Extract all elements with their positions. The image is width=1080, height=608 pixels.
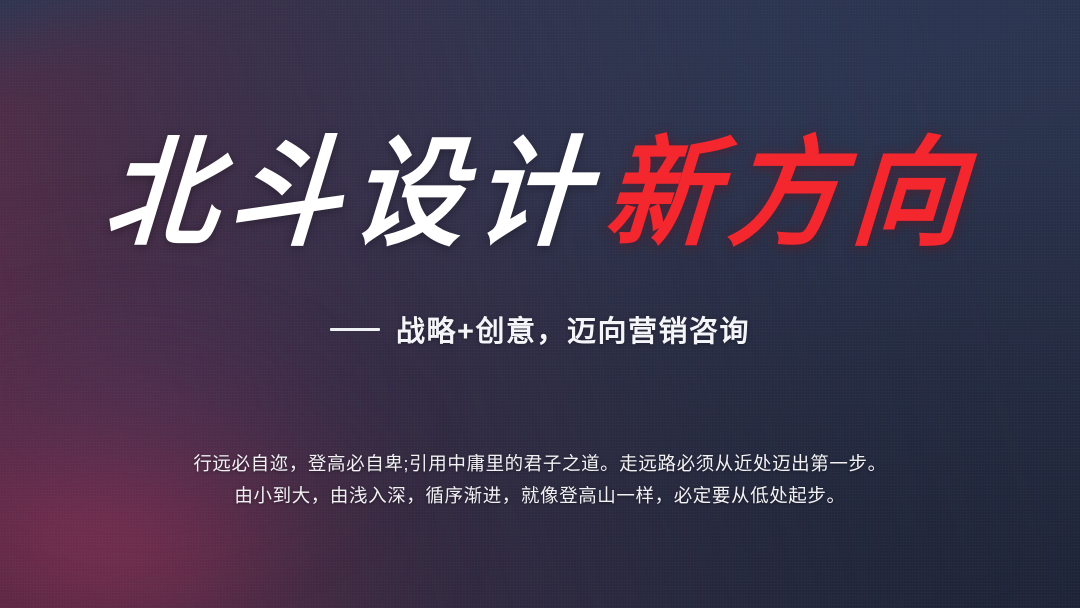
body-paragraph: 行远必自迩，登高必自卑;引用中庸里的君子之道。走远路必须从近处迈出第一步。 由小…: [0, 448, 1080, 512]
body-line-2: 由小到大，由浅入深，循序渐进，就像登高山一样，必定要从低处起步。: [0, 480, 1080, 512]
subtitle: 战略+创意，迈向营销咨询: [0, 308, 1080, 350]
poster-content: 北斗设计新方向 战略+创意，迈向营销咨询 行远必自迩，登高必自卑;引用中庸里的君…: [0, 0, 1080, 608]
headline-accent: 新方向: [601, 135, 978, 254]
headline: 北斗设计新方向: [0, 138, 1080, 250]
headline-primary: 北斗设计: [101, 135, 601, 254]
subtitle-dash-icon: [330, 328, 380, 331]
subtitle-text: 战略+创意，迈向营销咨询: [396, 308, 750, 350]
poster-canvas: 北斗设计新方向 战略+创意，迈向营销咨询 行远必自迩，登高必自卑;引用中庸里的君…: [0, 0, 1080, 608]
body-line-1: 行远必自迩，登高必自卑;引用中庸里的君子之道。走远路必须从近处迈出第一步。: [0, 448, 1080, 480]
